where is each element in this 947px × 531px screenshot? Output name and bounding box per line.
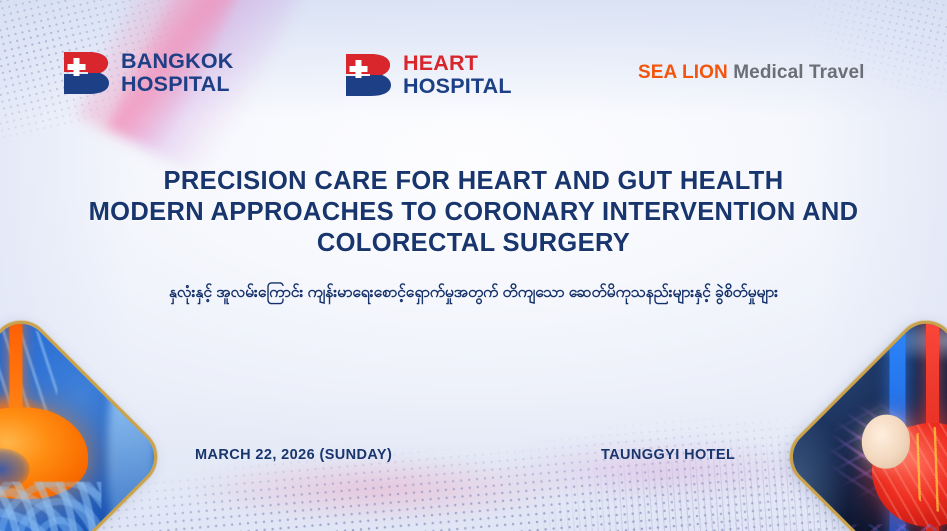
event-date: MARCH 22, 2026 (SUNDAY) xyxy=(195,447,392,463)
logo-bangkok-wordmark: BANGKOK HOSPITAL xyxy=(121,51,233,96)
event-venue: TAUNGGYI HOTEL xyxy=(601,447,735,463)
logo-heart-hospital: HEART HOSPITAL xyxy=(344,52,512,98)
logo-sealion-brand: SEA LION xyxy=(638,62,728,83)
title-line-1: PRECISION CARE FOR HEART AND GUT HEALTH xyxy=(0,166,947,197)
logo-sealion-wordmark: SEA LION Medical Travel xyxy=(638,62,865,84)
hospital-cross-b-icon xyxy=(62,50,110,96)
event-title: PRECISION CARE FOR HEART AND GUT HEALTH … xyxy=(0,166,947,259)
event-banner: BANGKOK HOSPITAL HEART HOSPITAL xyxy=(0,0,947,531)
logo-heart-wordmark: HEART HOSPITAL xyxy=(403,53,512,98)
logo-heart-line1: HEART xyxy=(403,53,512,75)
intestines-shape xyxy=(0,482,101,531)
logo-strip: BANGKOK HOSPITAL HEART HOSPITAL xyxy=(0,0,947,140)
logo-bangkok-line2: HOSPITAL xyxy=(121,74,233,96)
logo-bangkok-line1: BANGKOK xyxy=(121,51,233,73)
logo-bangkok-hospital: BANGKOK HOSPITAL xyxy=(62,50,233,96)
title-line-2: MODERN APPROACHES TO CORONARY INTERVENTI… xyxy=(0,197,947,228)
hospital-cross-b-icon xyxy=(344,52,392,98)
event-subtitle-burmese: နှလုံးနှင့် အူလမ်းကြောင်း ကျန်းမာရေးစောင… xyxy=(0,280,947,306)
title-line-3: COLORECTAL SURGERY xyxy=(0,228,947,259)
logo-heart-line2: HOSPITAL xyxy=(403,76,512,98)
logo-sea-lion-medical-travel: SEA LION Medical Travel xyxy=(638,62,865,84)
logo-sealion-sub: Medical Travel xyxy=(733,62,864,83)
